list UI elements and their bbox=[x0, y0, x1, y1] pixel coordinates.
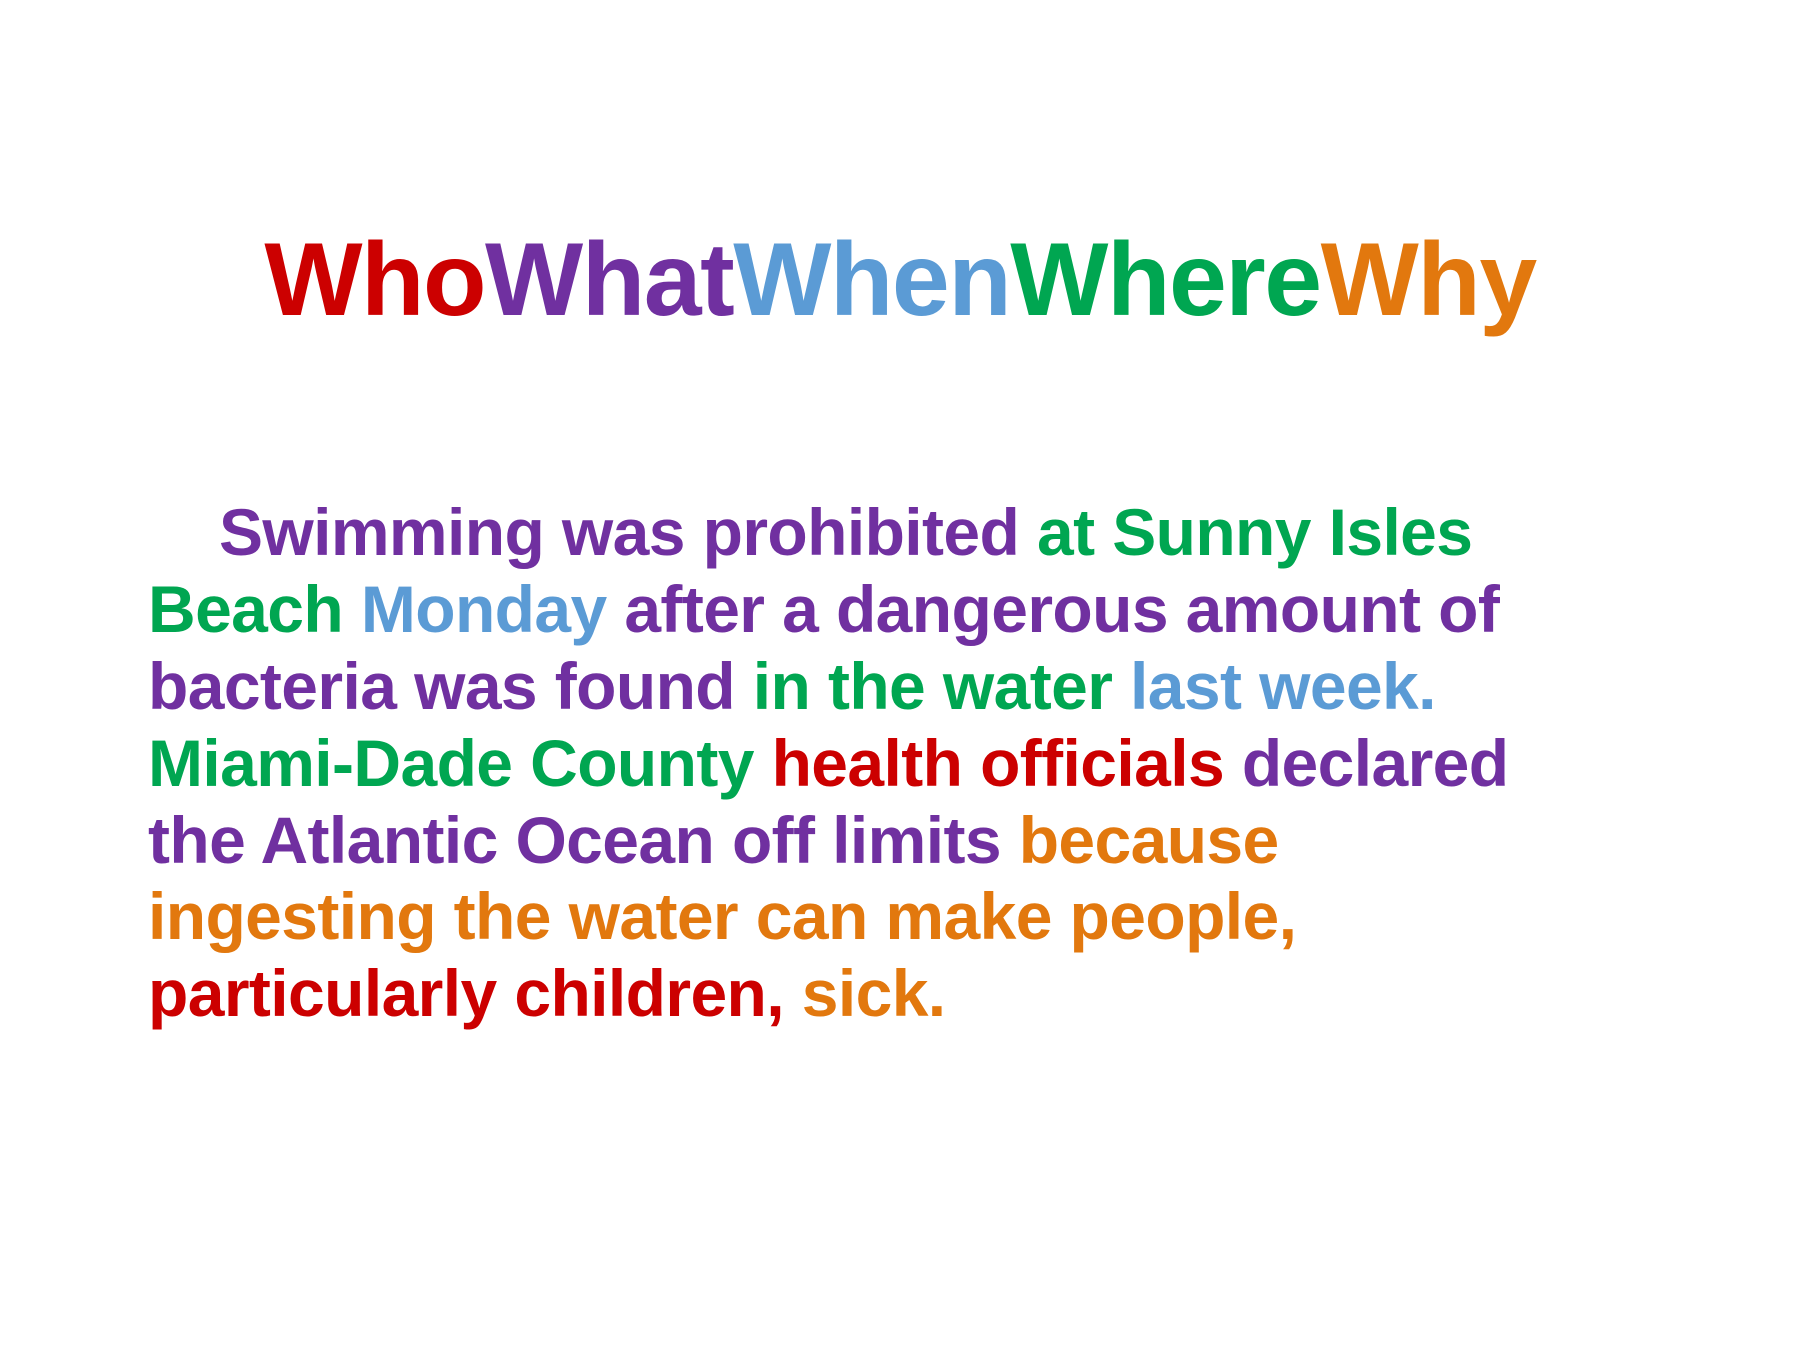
title-segment-who: Who bbox=[264, 222, 485, 338]
paragraph-segment-who-2: particularly children, bbox=[148, 956, 802, 1030]
paragraph-segment-what-1: Swimming was prohibited bbox=[219, 495, 1037, 569]
body-block: Swimming was prohibited at Sunny Isles B… bbox=[148, 494, 1516, 1032]
title-segment-what: What bbox=[485, 222, 733, 338]
paragraph-segment-who-1: health officials bbox=[772, 726, 1242, 800]
title-segment-where: Where bbox=[1010, 222, 1320, 338]
title-block: WhoWhatWhenWhereWhy bbox=[0, 228, 1800, 332]
paragraph-indent bbox=[148, 495, 219, 569]
title-segment-when: When bbox=[733, 222, 1010, 338]
paragraph-segment-why-2: sick. bbox=[802, 956, 946, 1030]
news-lead-paragraph: Swimming was prohibited at Sunny Isles B… bbox=[148, 494, 1516, 1032]
slide-canvas: WhoWhatWhenWhereWhy Swimming was prohibi… bbox=[0, 0, 1800, 1350]
title-segment-why: Why bbox=[1321, 222, 1536, 338]
paragraph-segment-where-3: Miami-Dade County bbox=[148, 726, 772, 800]
paragraph-segment-when-1: Monday bbox=[361, 572, 624, 646]
paragraph-segment-where-2: in the water bbox=[753, 649, 1130, 723]
page-title: WhoWhatWhenWhereWhy bbox=[264, 228, 1535, 332]
paragraph-segment-when-2: last week. bbox=[1130, 649, 1454, 723]
